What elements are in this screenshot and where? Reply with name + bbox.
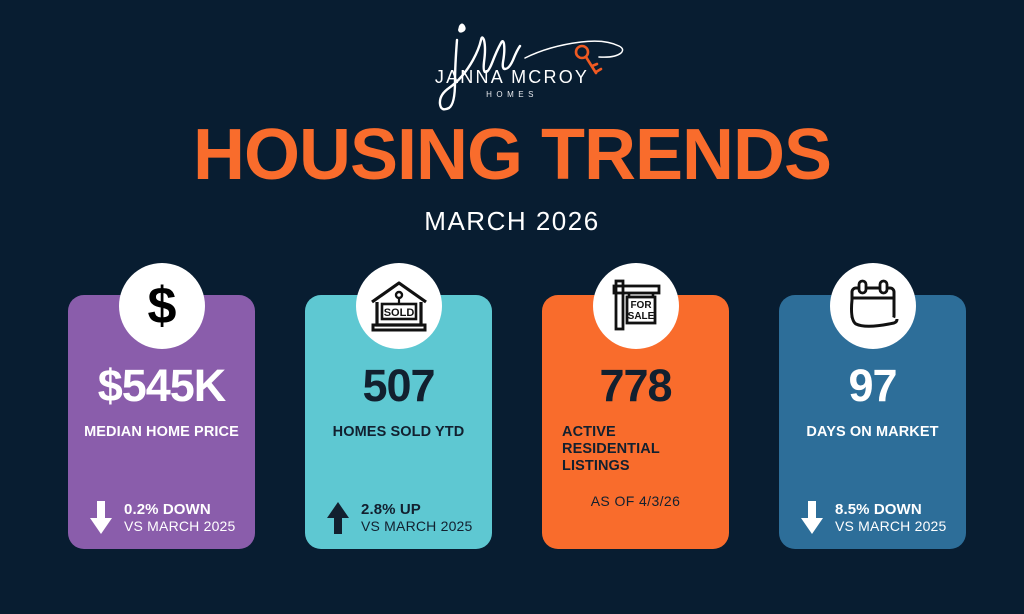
stat-label: HOMES SOLD YTD bbox=[317, 424, 480, 441]
stat-label: MEDIAN HOME PRICE bbox=[80, 424, 243, 441]
logo-brand-name: JANNA MCROY bbox=[397, 67, 627, 88]
stat-delta-sub: VS MARCH 2025 bbox=[361, 519, 473, 534]
arrow-up-icon bbox=[325, 501, 351, 535]
svg-text:$: $ bbox=[147, 278, 176, 334]
stat-label: DAYS ON MARKET bbox=[791, 424, 954, 441]
dollar-sign-icon: $ bbox=[119, 263, 205, 349]
stat-value: 507 bbox=[362, 363, 434, 408]
stat-delta: 0.2% DOWN VS MARCH 2025 bbox=[80, 501, 243, 535]
stat-delta: 8.5% DOWN VS MARCH 2025 bbox=[791, 501, 954, 535]
stat-card-active-listings: FOR SALE 778 ACTIVE RESIDENTIAL LISTINGS… bbox=[542, 295, 729, 549]
stat-delta-sub: VS MARCH 2025 bbox=[124, 519, 236, 534]
stat-delta-main: 2.8% UP bbox=[361, 502, 473, 518]
stat-delta-main: 8.5% DOWN bbox=[835, 502, 947, 518]
page-title: HOUSING TRENDS bbox=[0, 118, 1024, 194]
logo-tagline: HOMES bbox=[397, 90, 627, 99]
arrow-down-icon bbox=[88, 501, 114, 535]
stat-card-days-on-market: 97 DAYS ON MARKET 8.5% DOWN VS MARCH 202… bbox=[779, 295, 966, 549]
for-sale-sign-icon: FOR SALE bbox=[593, 263, 679, 349]
house-sold-sign-icon: SOLD bbox=[356, 263, 442, 349]
stat-card-median-home-price: $ $545K MEDIAN HOME PRICE 0.2% DOWN VS M… bbox=[68, 295, 255, 549]
stat-card-row: $ $545K MEDIAN HOME PRICE 0.2% DOWN VS M… bbox=[68, 295, 966, 549]
stat-card-homes-sold: SOLD 507 HOMES SOLD YTD 2.8% UP VS MARCH… bbox=[305, 295, 492, 549]
stat-delta-sub: VS MARCH 2025 bbox=[835, 519, 947, 534]
stat-delta: 2.8% UP VS MARCH 2025 bbox=[317, 501, 480, 535]
stat-note: AS OF 4/3/26 bbox=[554, 493, 717, 509]
sold-icon-text: SOLD bbox=[383, 307, 414, 319]
stat-delta-main: 0.2% DOWN bbox=[124, 502, 236, 518]
stat-value: 778 bbox=[599, 363, 671, 408]
calendar-icon bbox=[830, 263, 916, 349]
stat-label: ACTIVE RESIDENTIAL LISTINGS bbox=[554, 424, 717, 475]
brand-logo: JANNA MCROY HOMES bbox=[0, 12, 1024, 112]
stat-value: 97 bbox=[848, 363, 896, 408]
sale-icon-text: SALE bbox=[627, 311, 654, 322]
for-icon-text: FOR bbox=[630, 300, 652, 311]
stat-value: $545K bbox=[98, 363, 226, 408]
arrow-down-icon bbox=[799, 501, 825, 535]
page-subtitle: MARCH 2026 bbox=[0, 206, 1024, 237]
